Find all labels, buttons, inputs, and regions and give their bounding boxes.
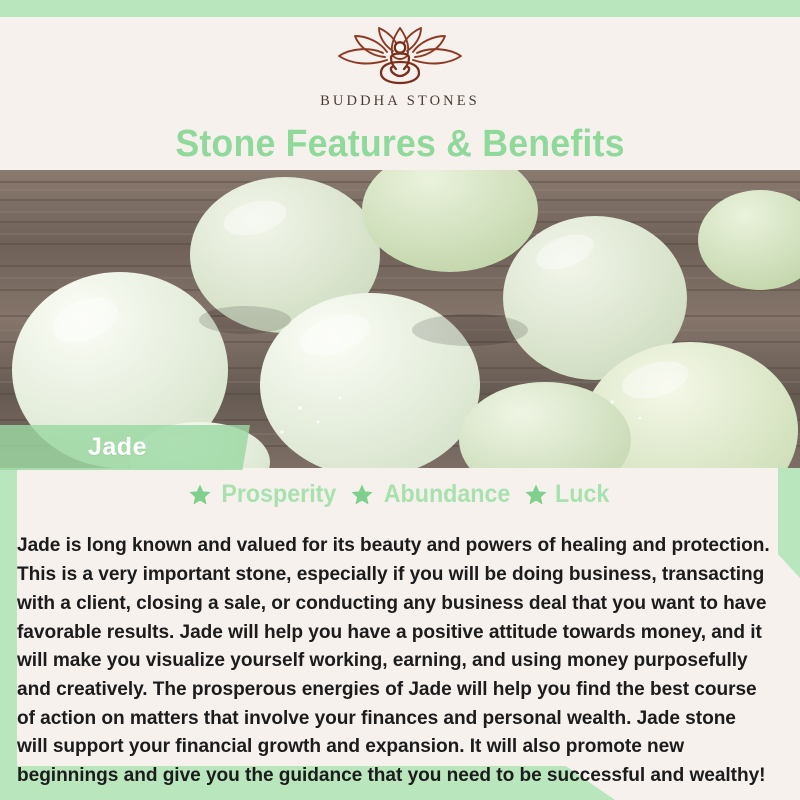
benefit-item-0: Prosperity <box>189 480 341 509</box>
stone-description: Jade is long known and valued for its be… <box>17 531 772 789</box>
top-accent-bar <box>0 0 800 17</box>
brand-name: BUDDHA STONES <box>320 93 480 110</box>
page-title: Stone Features & Benefits <box>175 123 624 166</box>
star-icon <box>351 484 373 505</box>
headline-bar: Stone Features & Benefits <box>0 118 800 170</box>
benefits-row: Prosperity Abundance Luck <box>0 478 800 510</box>
infographic-card: BUDDHA STONES Stone Features & Benefits <box>0 0 800 800</box>
benefit-item-2: Luck <box>525 480 611 509</box>
stone-photo <box>0 170 800 468</box>
benefit-label: Abundance <box>383 480 510 509</box>
benefit-label: Luck <box>555 480 609 509</box>
star-icon <box>525 484 547 505</box>
lotus-meditation-icon <box>325 26 475 88</box>
benefit-label: Prosperity <box>221 480 336 509</box>
stone-name: Jade <box>88 433 147 462</box>
stone-name-bar: Jade <box>0 425 250 470</box>
benefit-item-1: Abundance <box>351 480 515 509</box>
star-icon <box>189 484 211 505</box>
brand-block: BUDDHA STONES <box>0 17 800 118</box>
left-accent-bar-body <box>0 470 17 766</box>
